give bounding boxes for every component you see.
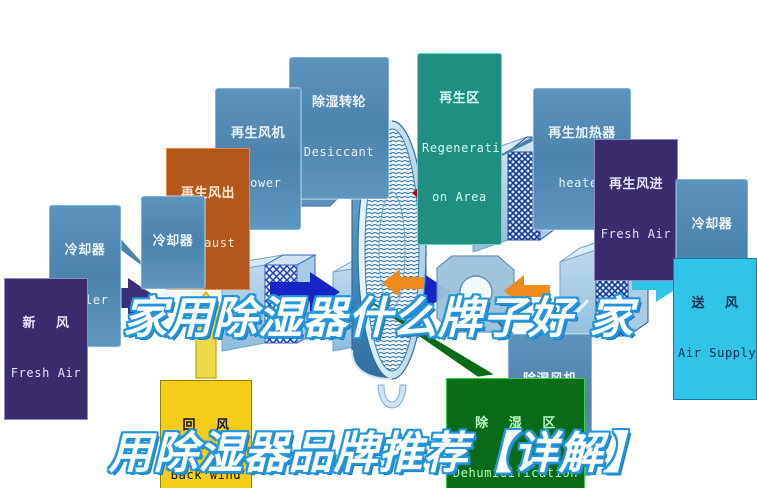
label-regeneration-fresh-air-in[interactable]: 再生风进 Fresh Air — [594, 139, 678, 281]
label-desiccant-rotor[interactable]: 除湿转轮 Desiccant — [289, 57, 389, 199]
label-cooler-left-back-cn: 冷却器 — [146, 235, 200, 250]
label-regeneration-fresh-air-in-cn: 再生风进 — [599, 178, 673, 193]
process-blower-body — [437, 256, 514, 332]
label-cooler-right-cn: 冷却器 — [681, 218, 743, 233]
label-air-supply[interactable]: 送 风 Air Supply — [673, 258, 757, 400]
label-cooler-left-back[interactable]: 冷却器 — [141, 196, 205, 289]
label-back-wind[interactable]: 回 风 Back wind — [160, 380, 252, 488]
label-dehumidification-district-cn: 除 湿 区 — [451, 417, 580, 432]
label-regeneration-blower-cn: 再生风机 — [220, 127, 296, 142]
label-desiccant-rotor-cn: 除湿转轮 — [294, 96, 384, 111]
diagram-canvas: xfmy 除湿转轮 Desiccant 再生风机 Blower 再生区 Rege… — [0, 0, 757, 488]
label-desiccant-rotor-en: Desiccant — [294, 146, 384, 159]
label-air-supply-en: Air Supply — [678, 347, 752, 360]
label-regeneration-area-cn: 再生区 — [422, 92, 497, 107]
label-regeneration-fresh-air-in-en: Fresh Air — [599, 228, 673, 241]
label-regeneration-area[interactable]: 再生区 Regenerati on Area — [417, 53, 502, 245]
label-regeneration-area-en1: Regenerati — [422, 142, 497, 155]
label-regeneration-area-en2: on Area — [422, 191, 497, 204]
label-fresh-air-in-en: Fresh Air — [9, 367, 83, 380]
label-fresh-air-in[interactable]: 新 风 Fresh Air — [4, 278, 88, 420]
label-dehumidification-district-en1: Dehumidification — [451, 467, 580, 480]
label-dehumidification-district[interactable]: 除 湿 区 Dehumidification District — [446, 378, 585, 488]
label-fresh-air-in-cn: 新 风 — [9, 317, 83, 332]
label-cooler-left-front-cn: 冷却器 — [54, 244, 116, 259]
label-air-supply-cn: 送 风 — [678, 297, 752, 312]
watermark-text: xfmy — [332, 322, 364, 333]
label-back-wind-en: Back wind — [165, 469, 247, 482]
back-wind-arrow — [184, 292, 228, 378]
label-back-wind-cn: 回 风 — [165, 419, 247, 434]
